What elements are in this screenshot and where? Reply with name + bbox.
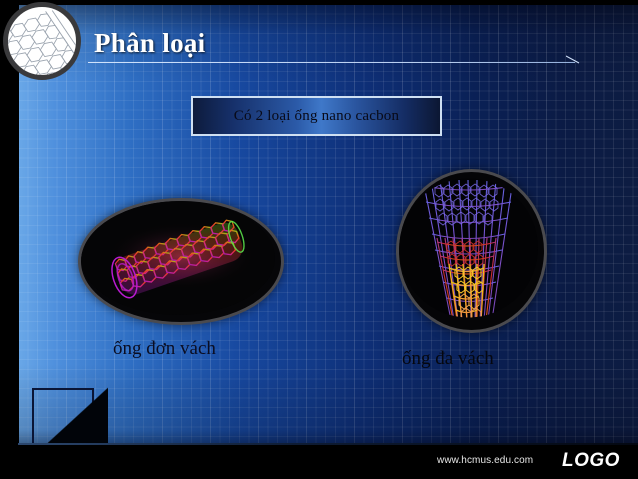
corner-decoration (18, 360, 108, 444)
title-rule-tick-icon (566, 55, 580, 64)
footer-logo: LOGO (562, 450, 620, 472)
page-title: Phân loại (94, 28, 205, 59)
slide-canvas: Phân loại (0, 0, 638, 479)
frame-top-bar (0, 0, 638, 5)
callout-box: Có 2 loại ống nano cacbon (191, 96, 442, 136)
caption-multi-wall: ống đa vách (402, 348, 494, 370)
footer-url[interactable]: www.hcmus.edu.com (437, 455, 533, 466)
single-walled-carbon-nanotube-image (81, 201, 281, 322)
nanotube-mesh-logo-icon (3, 2, 81, 80)
footer-bar (0, 443, 638, 479)
footer-highlight-line (18, 443, 638, 445)
frame-left-bar (0, 0, 19, 479)
corner-decoration-diagonal (18, 370, 108, 444)
multi-walled-carbon-nanotube-image (399, 172, 544, 330)
caption-single-wall: ống đơn vách (113, 338, 216, 360)
title-underline (88, 62, 575, 63)
callout-text: Có 2 loại ống nano cacbon (234, 108, 399, 125)
